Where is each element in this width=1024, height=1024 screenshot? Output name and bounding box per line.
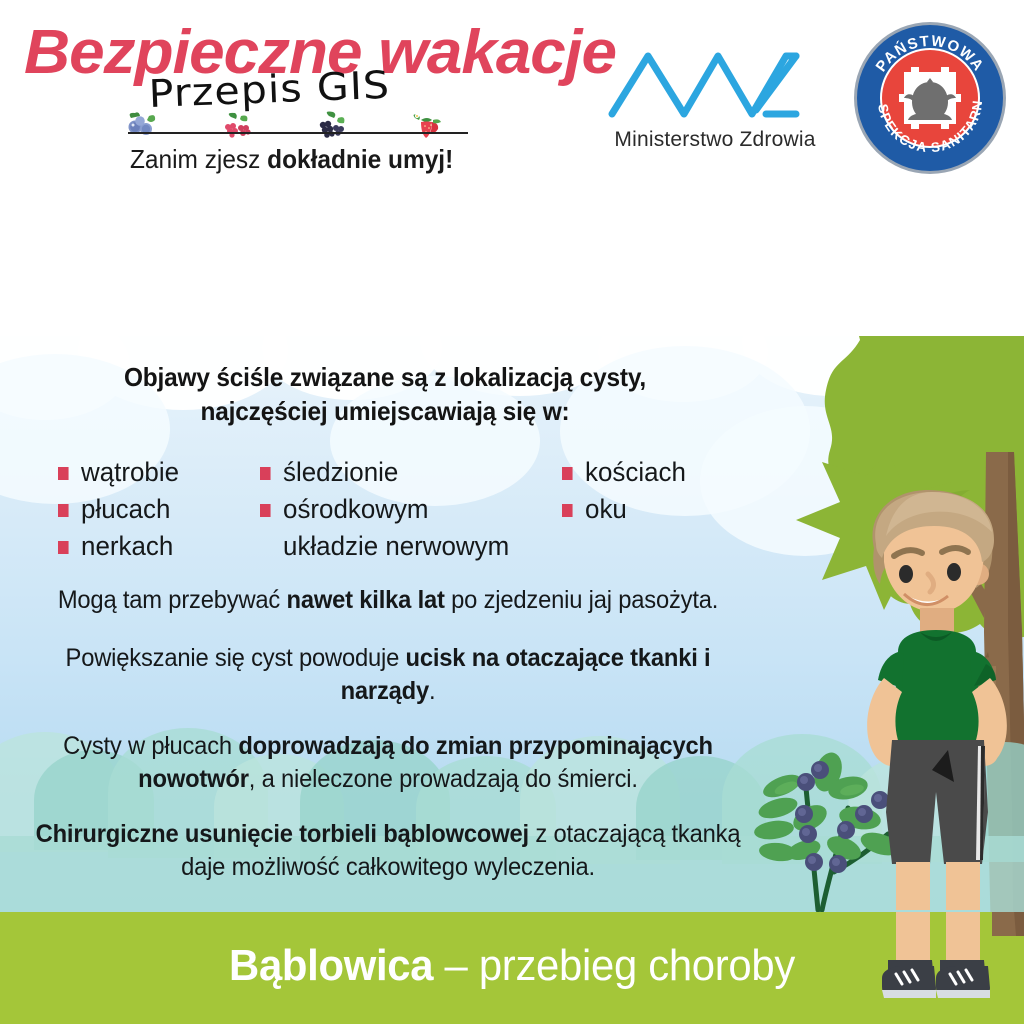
brand-tagline-bold: dokładnie umyj!: [267, 144, 453, 174]
raspberry-icon: [219, 111, 253, 141]
brand-lockup: Bezpieczne wakacje Przepis GIS: [18, 22, 598, 182]
infographic-poster: Bezpieczne wakacje Przepis GIS: [0, 0, 1024, 1024]
bullet-square-icon: [58, 504, 69, 517]
symptom-location-list: wątrobie płucach nerkach śledzionie ośro…: [52, 454, 752, 564]
bullet-column-2: śledzionie ośrodkowym układzie nerwowym: [260, 454, 520, 565]
footer-title-bold: Bąblowica: [229, 941, 433, 990]
para4-part1: Chirurgiczne usunięcie torbieli bąblowco…: [36, 820, 529, 848]
berry-divider-rule: [128, 132, 468, 134]
symptoms-heading-line1: Objawy ściśle związane są z lokalizacją …: [42, 360, 728, 394]
ministry-of-health-caption: Ministerstwo Zdrowia: [600, 128, 830, 152]
blackberry-icon: [313, 110, 347, 140]
bullet-square-icon: [58, 541, 69, 554]
blueberry-icon: [125, 110, 159, 140]
mz-zigzag-icon: [600, 40, 830, 126]
list-item-label: nerkach: [81, 531, 173, 561]
bullet-square-icon: [562, 504, 573, 517]
berry-divider-icons: [123, 110, 473, 140]
boy-legs-and-shoes: [836, 912, 1024, 1024]
list-item: płucach: [58, 491, 179, 528]
list-item: ośrodkowym: [260, 491, 509, 528]
para2-part1: Powiększanie się cyst powoduje: [66, 644, 406, 672]
para3-part3: , a nieleczone prowadzają do śmierci.: [249, 765, 638, 793]
ministry-of-health-logo: Ministerstwo Zdrowia: [600, 40, 830, 160]
poster-footer-banner: Bąblowica – przebieg choroby: [0, 912, 1024, 1024]
bullet-square-icon: [58, 467, 69, 480]
bullet-column-1: wątrobie płucach nerkach: [58, 454, 184, 565]
list-item: wątrobie: [58, 454, 179, 491]
poster-header: Bezpieczne wakacje Przepis GIS: [0, 0, 1024, 193]
list-item-label: ośrodkowym: [283, 494, 428, 524]
list-item-label: śledzionie: [283, 457, 398, 487]
para2-part3: .: [429, 677, 435, 705]
list-item-label: płucach: [81, 494, 170, 524]
list-item-label: układzie nerwowym: [283, 531, 509, 561]
panstwowa-inspekcja-sanitarna-seal-icon: PAŃSTWOWA INSPEKCJA SANITARNA: [852, 20, 1008, 176]
strawberry-icon: [409, 112, 443, 142]
paragraph-lungs: Cysty w płucach doprowadzają do zmian pr…: [35, 730, 742, 796]
list-item-continuation: układzie nerwowym: [260, 528, 509, 565]
paragraph-duration: Mogą tam przebywać nawet kilka lat po zj…: [35, 584, 742, 617]
para3-part1: Cysty w płucach: [63, 732, 238, 760]
list-item: oku: [562, 491, 686, 528]
list-item: śledzionie: [260, 454, 509, 491]
para1-part1: Mogą tam przebywać: [58, 586, 287, 614]
list-item: nerkach: [58, 528, 179, 565]
brand-tagline-plain: Zanim zjesz: [130, 144, 267, 174]
symptoms-heading-line2: najczęściej umiejscawiają się w:: [42, 394, 728, 428]
list-item: kościach: [562, 454, 686, 491]
brand-tagline: Zanim zjesz dokładnie umyj!: [130, 144, 525, 174]
list-item-label: oku: [585, 494, 627, 524]
list-item-label: wątrobie: [81, 457, 179, 487]
list-item-label: kościach: [585, 457, 686, 487]
bullet-column-3: kościach oku: [562, 454, 691, 528]
para1-part3: po zjedzeniu jaj pasożyta.: [445, 586, 718, 614]
sanitary-inspection-logo: PAŃSTWOWA INSPEKCJA SANITARNA: [852, 20, 1008, 176]
paragraph-pressure: Powiększanie się cyst powoduje ucisk na …: [35, 642, 742, 708]
symptoms-heading: Objawy ściśle związane są z lokalizacją …: [42, 360, 728, 428]
footer-title-rest: – przebieg choroby: [433, 941, 795, 990]
para1-part2: nawet kilka lat: [287, 586, 445, 614]
paragraph-surgery: Chirurgiczne usunięcie torbieli bąblowco…: [35, 818, 742, 884]
bullet-square-icon: [562, 467, 573, 480]
bullet-square-icon: [260, 467, 271, 480]
bullet-square-icon: [260, 504, 271, 517]
body-content: Objawy ściśle związane są z lokalizacją …: [0, 336, 1024, 912]
